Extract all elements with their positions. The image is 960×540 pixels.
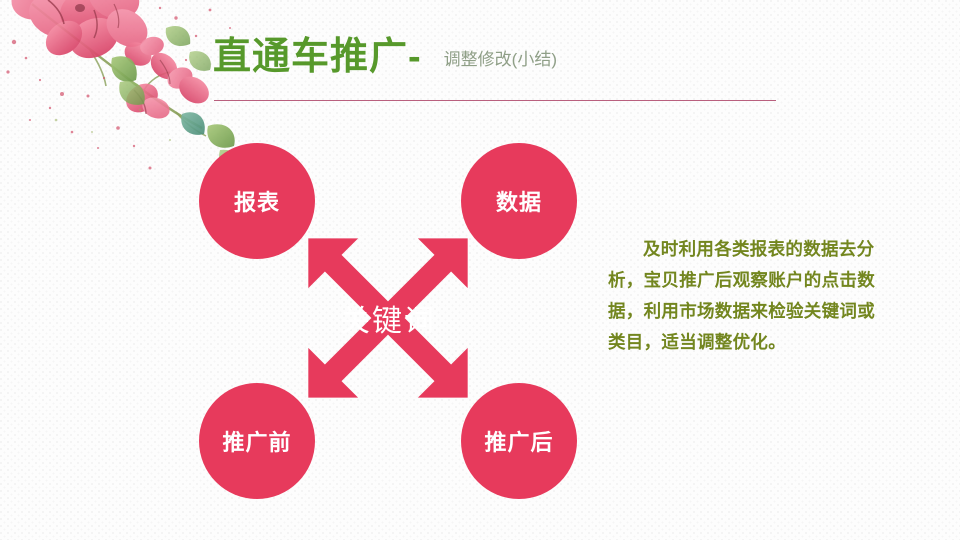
diagram-node-baobiao[interactable]: 报表 [199,143,315,259]
page-subtitle: 调整修改(小结) [444,45,557,70]
slide-canvas: 直通车推广-调整修改(小结) 报表 数据 推广前 推广后 关键词 及时利用各类报… [0,0,960,540]
header-divider [214,100,776,101]
diagram-node-label: 推广后 [484,425,553,457]
diagram-node-tuiguanghou[interactable]: 推广后 [461,383,577,499]
page-title: 直通车推广- [213,34,422,80]
center-cross-shape[interactable]: 关键词 [305,235,471,401]
four-way-diagonal-arrow-icon [305,235,471,401]
diagram-node-label: 报表 [234,185,280,217]
body-paragraph: 及时利用各类报表的数据去分析，宝贝推广后观察账户的点击数据，利用市场数据来检验关… [608,234,890,358]
diagram-node-label: 推广前 [222,425,291,457]
slide-header: 直通车推广-调整修改(小结) [213,34,813,92]
diagram-node-shuju[interactable]: 数据 [461,143,577,259]
diagram-node-label: 数据 [496,185,542,217]
diagram-node-tuiguangqian[interactable]: 推广前 [199,383,315,499]
